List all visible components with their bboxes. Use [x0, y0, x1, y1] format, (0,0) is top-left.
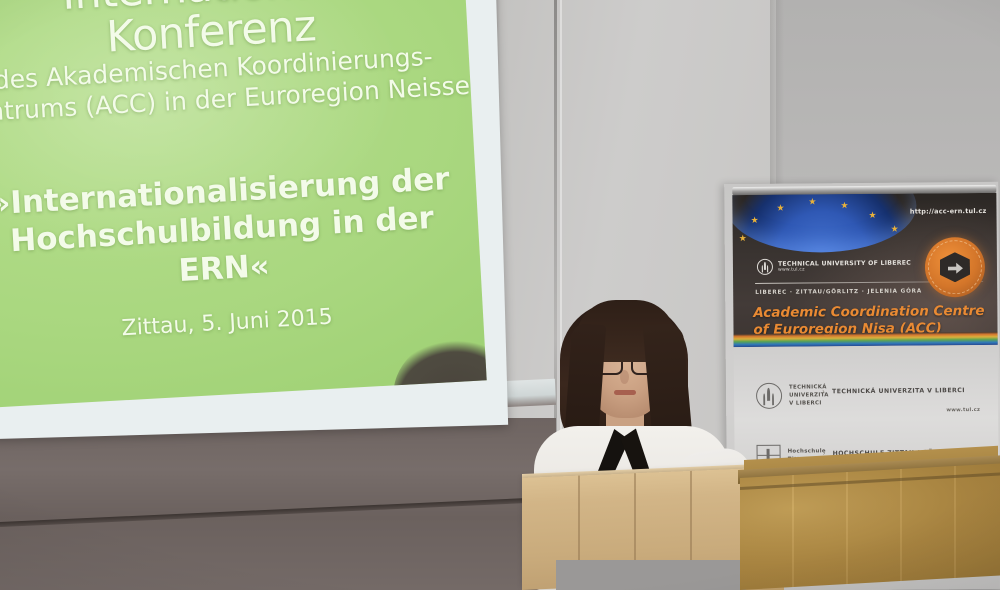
- banner-header-panel: ★ ★ ★ ★ ★ ★ ★ http://acc-ern.tul.cz TECH…: [732, 193, 997, 347]
- globe-atmosphere: [732, 193, 916, 253]
- conference-room-photo: Internationale Konferenz des Akademische…: [0, 0, 1000, 590]
- tul-university-web: www.tul.cz: [778, 267, 911, 273]
- slide-text-block: Internationale Konferenz des Akademische…: [0, 0, 487, 408]
- partner-name: TECHNICKÁ UNIVERZITA V LIBERCI: [832, 387, 965, 395]
- floor-strip: [556, 560, 746, 590]
- tul-logo-row: TECHNICAL UNIVERSITY OF LIBEREC www.tul.…: [757, 258, 911, 275]
- slide-quote: »Internationalisierung der Hochschulbild…: [0, 159, 481, 302]
- partner-web: www.tul.cz: [946, 407, 980, 413]
- tul-partner-logo-icon: [756, 383, 782, 409]
- tul-logo-icon: [757, 259, 773, 275]
- eu-star-icon: ★: [739, 235, 747, 244]
- eu-star-icon: ★: [751, 217, 759, 226]
- eu-star-icon: ★: [868, 212, 876, 221]
- banner-cities: LIBEREC · ZITTAU/GÖRLITZ · JELENIA GÓRA: [755, 288, 922, 295]
- banner-url: http://acc-ern.tul.cz: [910, 207, 987, 216]
- eu-star-icon: ★: [808, 198, 816, 207]
- eu-star-icon: ★: [891, 226, 899, 235]
- slide-date: Zittau, 5. Juni 2015: [0, 296, 483, 349]
- eu-star-icon: ★: [776, 205, 784, 214]
- mouth: [614, 390, 636, 395]
- banner-acc-title-line-1: Academic Coordination Centre: [753, 303, 987, 322]
- partner-row: TECHNICKÁ UNIVERZITA V LIBERCI: [756, 382, 829, 409]
- eu-star-icon: ★: [840, 202, 848, 211]
- projected-slide: Internationale Konferenz des Akademische…: [0, 0, 487, 408]
- acc-seal-icon: [925, 237, 986, 298]
- tul-logo-text: TECHNICAL UNIVERSITY OF LIBEREC www.tul.…: [778, 260, 911, 273]
- partner-bullet-icon: ›: [822, 387, 825, 395]
- partner-logo-line-3: V LIBERCI: [789, 399, 829, 407]
- projection-screen: Internationale Konferenz des Akademische…: [0, 0, 508, 439]
